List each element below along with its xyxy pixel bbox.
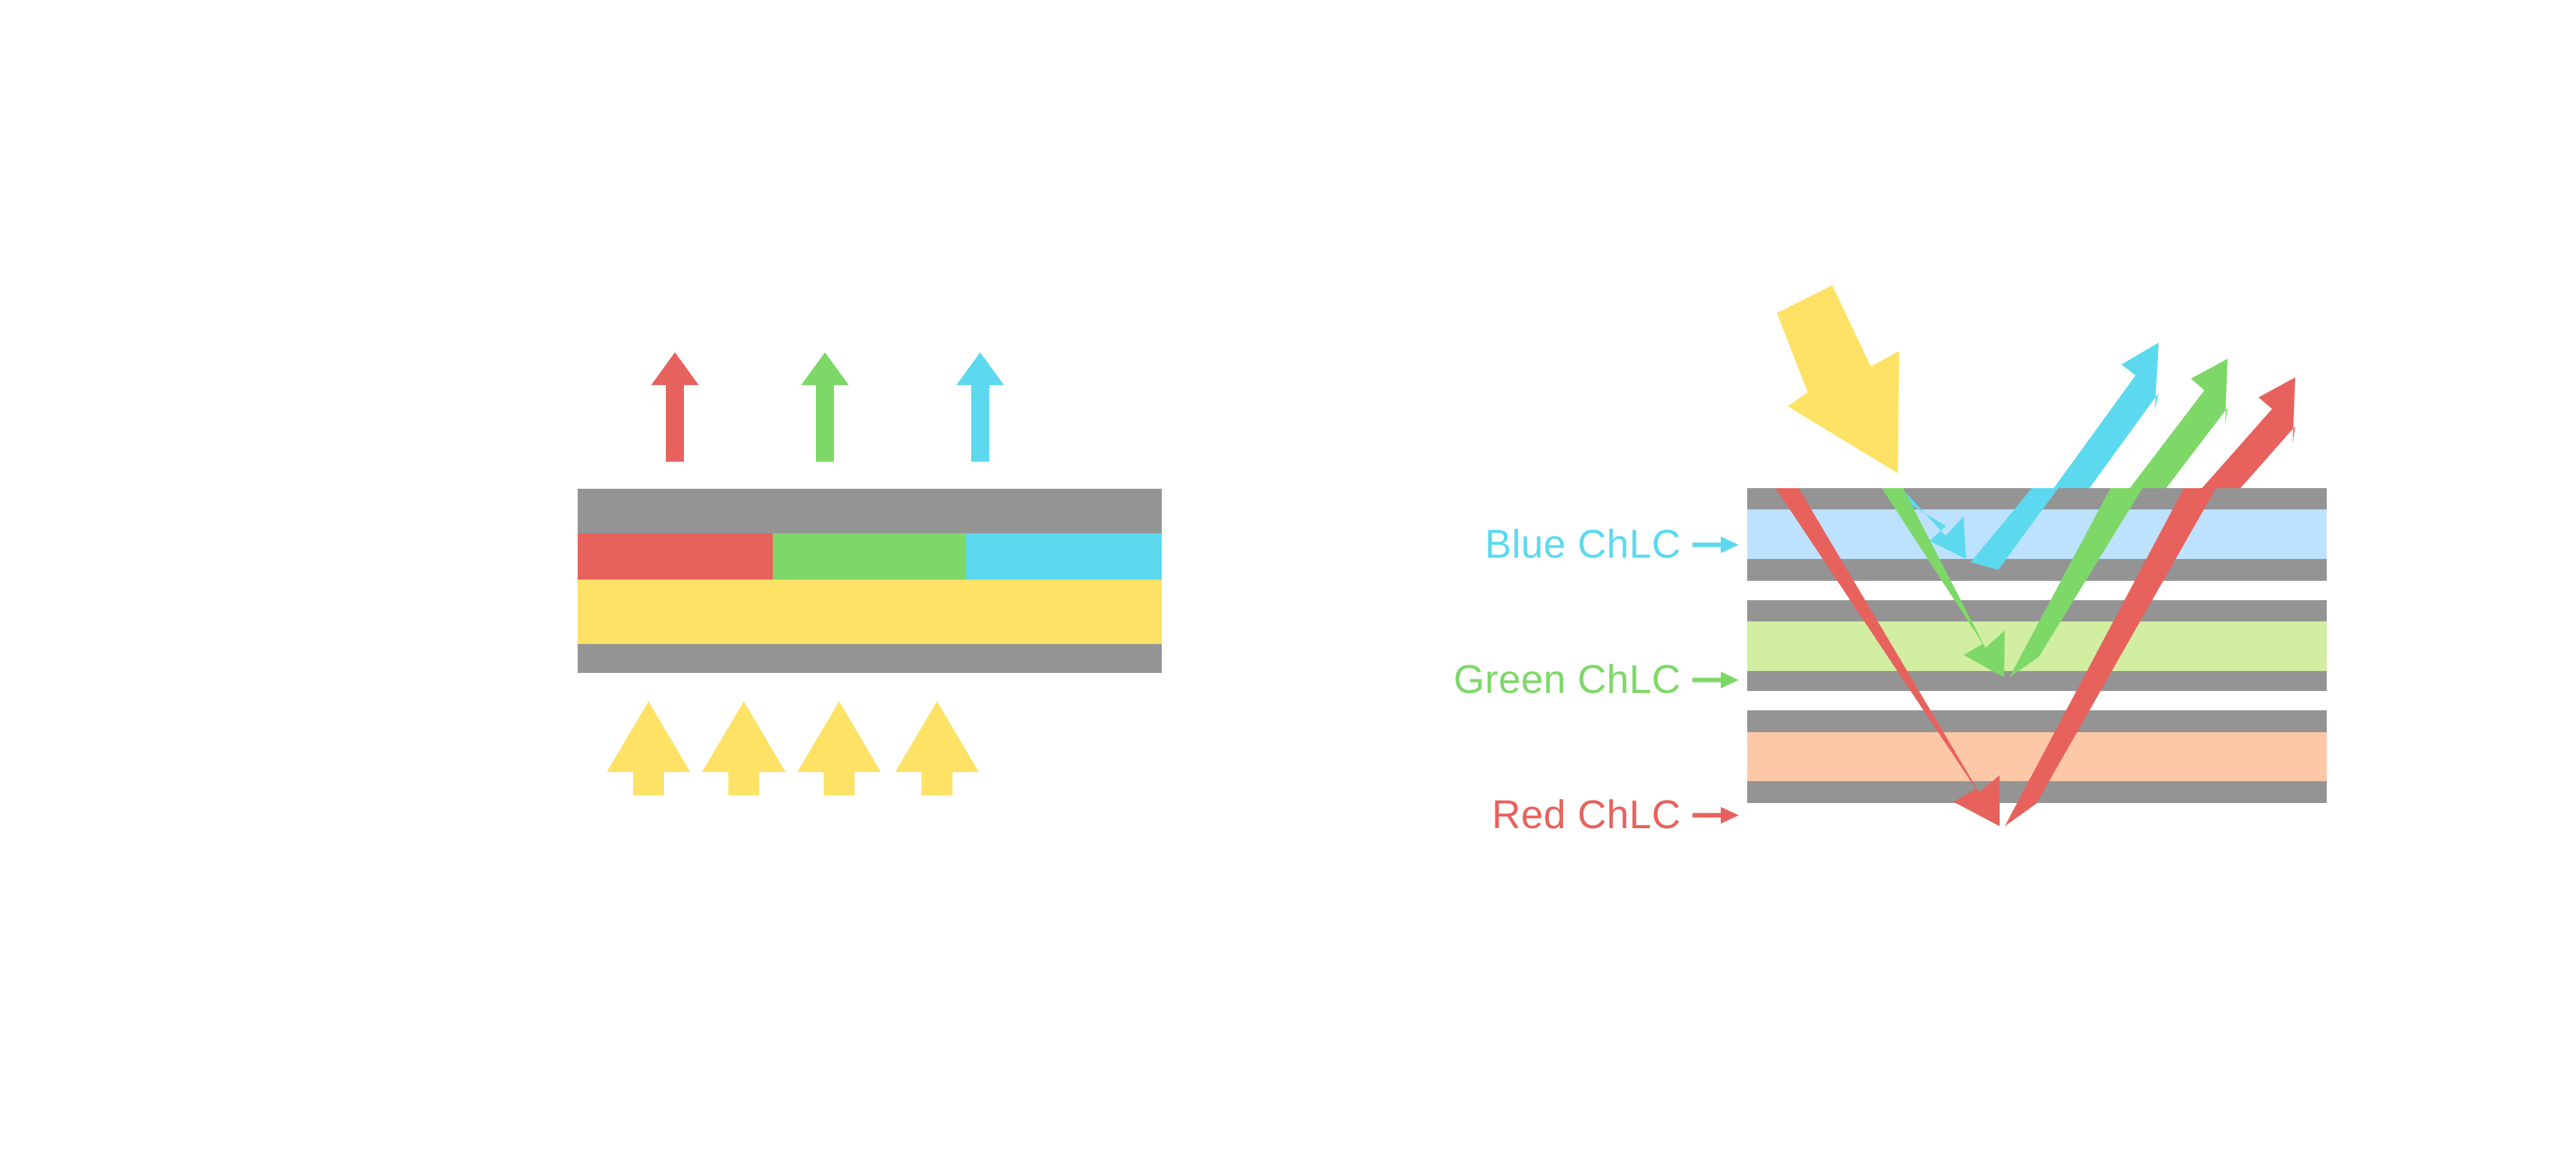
backlight-arrow-3: [797, 701, 881, 795]
emitted-light-arrows: [651, 352, 1004, 462]
left-top-electrode: [578, 489, 1162, 533]
green-label-arrow-icon: [1692, 672, 1739, 688]
green-chlc-label: Green ChLC: [1454, 657, 1681, 702]
emitted-red-arrow: [651, 352, 699, 462]
incident-white-light-arrow: [1777, 285, 1899, 473]
backlight-arrow-4: [895, 701, 979, 795]
gray-band-4: [1747, 671, 2327, 691]
blue-label-arrow-icon: [1692, 536, 1739, 553]
red-label-arrow-icon: [1692, 807, 1739, 824]
left-backlight-layer: [578, 580, 1162, 644]
right-panel-group: Blue ChLC Green ChLC Red ChLC: [1454, 285, 2327, 837]
left-green-filter: [773, 533, 966, 580]
left-red-filter: [578, 533, 773, 580]
left-cyan-filter: [966, 533, 1162, 580]
gray-band-3: [1747, 600, 2327, 621]
backlight-arrow-2: [702, 701, 786, 795]
left-stack: [578, 489, 1162, 673]
red-chlc-label: Red ChLC: [1492, 793, 1681, 837]
emitted-green-arrow: [801, 352, 849, 462]
diagram-canvas: Blue ChLC Green ChLC Red ChLC: [0, 0, 2576, 1154]
left-bottom-electrode: [578, 644, 1162, 673]
emitted-cyan-arrow: [956, 352, 1004, 462]
backlight-arrow-1: [607, 701, 690, 795]
gray-band-5: [1747, 710, 2327, 732]
left-panel-group: [578, 352, 1162, 795]
blue-chlc-label: Blue ChLC: [1485, 522, 1681, 567]
backlight-arrows: [607, 701, 979, 795]
right-panel-labels: Blue ChLC Green ChLC Red ChLC: [1454, 522, 1739, 837]
